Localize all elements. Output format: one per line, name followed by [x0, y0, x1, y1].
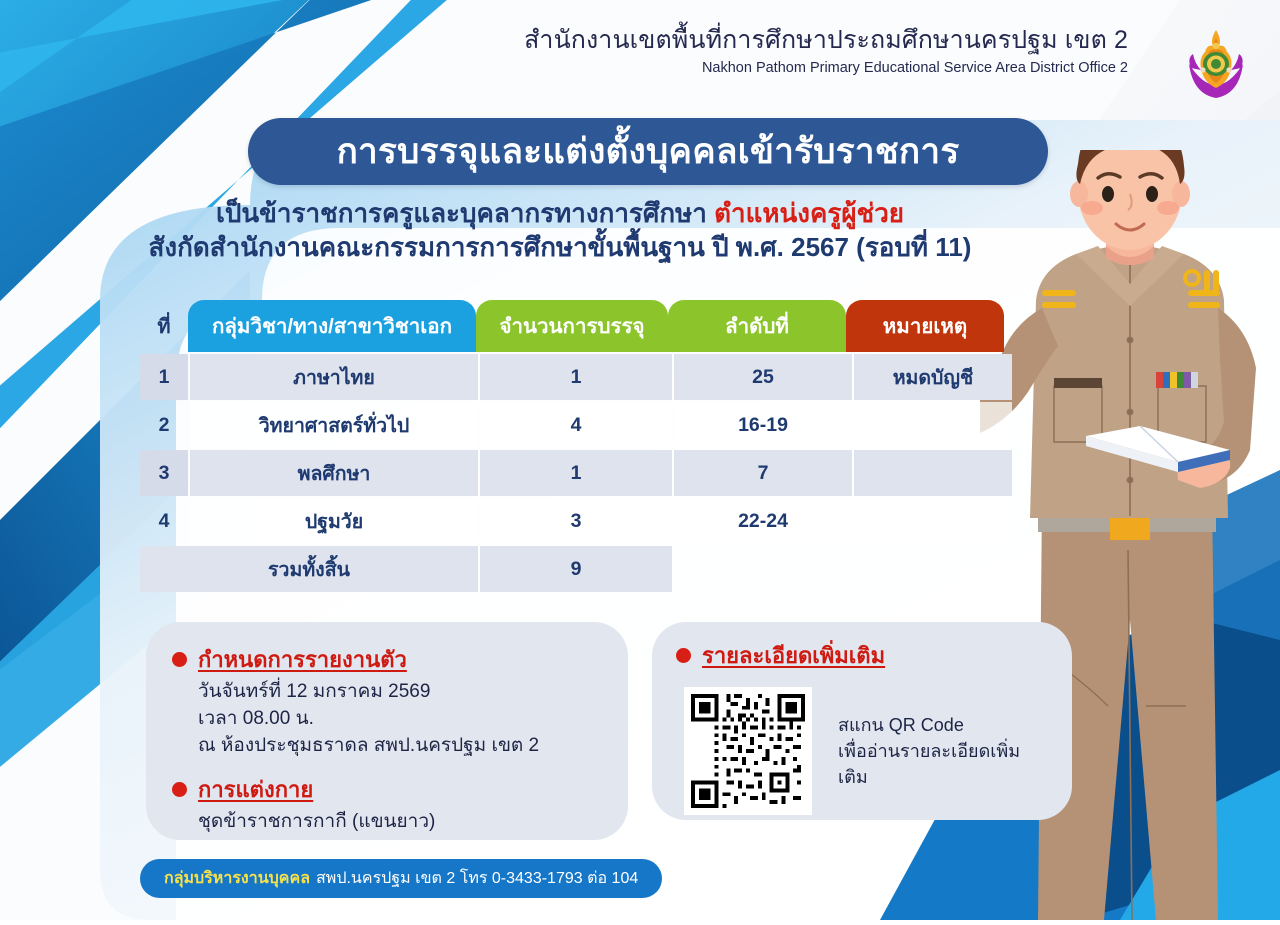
dresscode-body: ชุดข้าราชการกากี (แขนยาว): [172, 809, 602, 836]
table-header-row: ที่ กลุ่มวิชา/ทาง/สาขาวิชาเอก จำนวนการบร…: [140, 300, 1024, 352]
bullet-dot-icon: [172, 782, 187, 797]
column-header-note: หมายเหตุ: [846, 300, 1004, 352]
footer-department: กลุ่มบริหารงานบุคคล: [164, 866, 310, 891]
footer-contact: สพป.นครปฐม เขต 2 โทร 0-3433-1793 ต่อ 104: [316, 866, 638, 891]
more-info-heading-label: รายละเอียดเพิ่มเติม: [702, 638, 885, 673]
cell-subject: วิทยาศาสตร์ทั่วไป: [190, 402, 478, 448]
bullet-dot-icon: [676, 648, 691, 663]
cell-count: 1: [480, 450, 672, 496]
subtitle-line1-text: เป็นข้าราชการครูและบุคลากรทางการศึกษา: [216, 198, 714, 228]
office-name-english: Nakhon Pathom Primary Educational Servic…: [524, 60, 1128, 77]
bullet-dot-icon: [172, 652, 187, 667]
cell-no: 2: [140, 402, 188, 448]
cell-subject: พลศึกษา: [190, 450, 478, 496]
total-note-empty: [854, 546, 1012, 592]
report-venue: ณ ห้องประชุมธราดล สพป.นครปฐม เขต 2: [198, 733, 602, 760]
cell-no: 4: [140, 498, 188, 544]
more-info-heading: รายละเอียดเพิ่มเติม: [676, 638, 1048, 673]
qr-caption-line1: สแกน QR Code: [838, 712, 1048, 738]
organization-header: สำนักงานเขตพื้นที่การศึกษาประถมศึกษานครป…: [524, 26, 1128, 77]
total-label: รวมทั้งสิ้น: [140, 546, 478, 592]
cell-note: หมดบัญชี: [854, 354, 1012, 400]
total-order-empty: [674, 546, 852, 592]
cell-no: 1: [140, 354, 188, 400]
table-row: 2 วิทยาศาสตร์ทั่วไป 4 16-19: [140, 402, 1024, 448]
reporting-details-body: วันจันทร์ที่ 12 มกราคม 2569 เวลา 08.00 น…: [172, 679, 602, 760]
allocation-table: ที่ กลุ่มวิชา/ทาง/สาขาวิชาเอก จำนวนการบร…: [140, 300, 1024, 592]
cell-note: [854, 450, 1012, 496]
obec-emblem-logo: [1177, 24, 1255, 106]
reporting-heading: กำหนดการรายงานตัว: [172, 642, 602, 677]
qr-code[interactable]: [684, 687, 812, 815]
qr-row: สแกน QR Code เพื่ออ่านรายละเอียดเพิ่มเติ…: [676, 687, 1048, 815]
column-header-no: ที่: [140, 300, 188, 352]
subtitle-highlight-position: ตำแหน่งครูผู้ช่วย: [714, 198, 904, 228]
cell-subject: ปฐมวัย: [190, 498, 478, 544]
subtitle-block: เป็นข้าราชการครูและบุคลากรทางการศึกษา ตำ…: [0, 196, 1120, 265]
qr-caption: สแกน QR Code เพื่ออ่านรายละเอียดเพิ่มเติ…: [838, 712, 1048, 790]
cell-count: 3: [480, 498, 672, 544]
page-title: การบรรจุและแต่งตั้งบุคคลเข้ารับราชการ: [337, 124, 960, 179]
cell-count: 1: [480, 354, 672, 400]
office-name-thai: สำนักงานเขตพื้นที่การศึกษาประถมศึกษานครป…: [524, 26, 1128, 55]
cell-order: 22-24: [674, 498, 852, 544]
report-time: เวลา 08.00 น.: [198, 706, 602, 733]
total-count: 9: [480, 546, 672, 592]
reporting-details-panel: กำหนดการรายงานตัว วันจันทร์ที่ 12 มกราคม…: [146, 622, 628, 840]
report-date: วันจันทร์ที่ 12 มกราคม 2569: [198, 679, 602, 706]
table-row: 3 พลศึกษา 1 7: [140, 450, 1024, 496]
cell-subject: ภาษาไทย: [190, 354, 478, 400]
cell-order: 7: [674, 450, 852, 496]
more-info-panel: รายละเอียดเพิ่มเติม: [652, 622, 1072, 820]
cell-order: 16-19: [674, 402, 852, 448]
table-row: 1 ภาษาไทย 1 25 หมดบัญชี: [140, 354, 1024, 400]
cell-note: [854, 402, 1012, 448]
page-title-banner: การบรรจุและแต่งตั้งบุคคลเข้ารับราชการ: [248, 118, 1048, 185]
footer-contact-bar: กลุ่มบริหารงานบุคคล สพป.นครปฐม เขต 2 โทร…: [140, 859, 662, 898]
column-header-count: จำนวนการบรรจุ: [476, 300, 668, 352]
table-row: 4 ปฐมวัย 3 22-24: [140, 498, 1024, 544]
cell-count: 4: [480, 402, 672, 448]
reporting-heading-label: กำหนดการรายงานตัว: [198, 642, 407, 677]
table-total-row: รวมทั้งสิ้น 9: [140, 546, 1024, 592]
dresscode-heading-label: การแต่งกาย: [198, 772, 313, 807]
dresscode-heading: การแต่งกาย: [172, 772, 602, 807]
cell-note: [854, 498, 1012, 544]
column-header-order: ลำดับที่: [668, 300, 846, 352]
cell-order: 25: [674, 354, 852, 400]
qr-caption-line2: เพื่ออ่านรายละเอียดเพิ่มเติม: [838, 738, 1048, 790]
column-header-subject: กลุ่มวิชา/ทาง/สาขาวิชาเอก: [188, 300, 476, 352]
subtitle-line2: สังกัดสำนักงานคณะกรรมการการศึกษาขั้นพื้น…: [0, 230, 1120, 264]
cell-no: 3: [140, 450, 188, 496]
